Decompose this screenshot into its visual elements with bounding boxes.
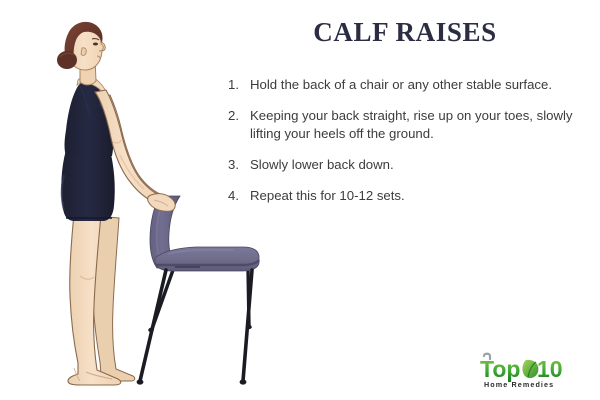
logo-top-text: Top	[480, 356, 520, 382]
chair-back-legs	[152, 268, 249, 329]
logo-number-text: 10	[537, 356, 563, 382]
list-item-text: Hold the back of a chair or any other st…	[250, 76, 590, 94]
list-item: 3. Slowly lower back down.	[228, 156, 590, 174]
chair	[137, 196, 259, 385]
list-item: 1. Hold the back of a chair or any other…	[228, 76, 590, 94]
list-item-number: 1.	[228, 76, 250, 94]
chair-foot-caps	[137, 325, 252, 385]
page-title: CALF RAISES	[210, 18, 600, 48]
list-item: 2. Keeping your back straight, rise up o…	[228, 107, 590, 143]
ear	[81, 48, 86, 56]
list-item: 4. Repeat this for 10-12 sets.	[228, 187, 590, 205]
chair-front-legs	[140, 270, 252, 381]
list-item-text: Repeat this for 10-12 sets.	[250, 187, 590, 205]
brand-logo-svg: Top 10 Home Remedies	[478, 350, 590, 392]
list-item-number: 4.	[228, 187, 250, 205]
exercise-infographic: CALF RAISES 1. Hold the back of a chair …	[0, 0, 600, 400]
woman-figure	[57, 22, 175, 385]
list-item-number: 2.	[228, 107, 250, 125]
logo-tagline: Home Remedies	[484, 380, 554, 389]
outfit-shorts	[61, 150, 114, 221]
list-item-text: Keeping your back straight, rise up on y…	[250, 107, 590, 143]
brand-logo[interactable]: Top 10 Home Remedies	[478, 350, 590, 392]
list-item-text: Slowly lower back down.	[250, 156, 590, 174]
chair-seat	[155, 247, 259, 271]
eye	[93, 43, 98, 46]
instruction-list: 1. Hold the back of a chair or any other…	[228, 76, 590, 218]
list-item-number: 3.	[228, 156, 250, 174]
